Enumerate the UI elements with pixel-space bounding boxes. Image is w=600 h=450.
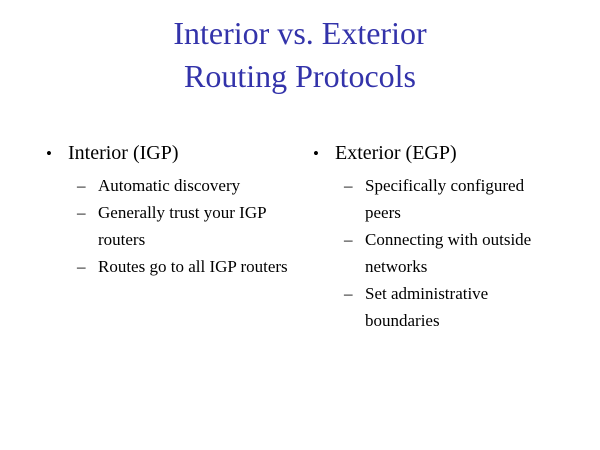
list-item: – Automatic discovery: [40, 172, 290, 199]
list-item: – Generally trust your IGP routers: [40, 199, 290, 253]
list-item-label: Connecting with outside networks: [365, 226, 562, 280]
dash-icon: –: [77, 253, 86, 280]
dash-icon: –: [344, 172, 353, 199]
sub-list-exterior: – Specifically configured peers – Connec…: [307, 172, 562, 334]
bullet-label-interior: Interior (IGP): [68, 142, 179, 164]
list-item: – Routes go to all IGP routers: [40, 253, 290, 280]
dash-icon: –: [77, 199, 86, 226]
slide-body: • Interior (IGP) – Automatic discovery –…: [0, 140, 600, 340]
dash-icon: –: [344, 226, 353, 253]
bullet-label-exterior: Exterior (EGP): [335, 142, 457, 164]
slide: Interior vs. Exterior Routing Protocols …: [0, 0, 600, 450]
dash-icon: –: [77, 172, 86, 199]
bullet-item-exterior: • Exterior (EGP): [307, 140, 562, 167]
list-item-label: Routes go to all IGP routers: [98, 253, 290, 280]
page-title: Interior vs. Exterior Routing Protocols: [0, 12, 600, 98]
dash-icon: –: [344, 280, 353, 307]
list-item-label: Automatic discovery: [98, 172, 290, 199]
column-exterior: • Exterior (EGP) – Specifically configur…: [307, 140, 562, 334]
bullet-item-interior: • Interior (IGP): [40, 140, 290, 167]
list-item-label: Set administrative boundaries: [365, 280, 562, 334]
list-item-label: Generally trust your IGP routers: [98, 199, 290, 253]
column-interior: • Interior (IGP) – Automatic discovery –…: [40, 140, 290, 280]
list-item: – Connecting with outside networks: [307, 226, 562, 280]
list-item: – Set administrative boundaries: [307, 280, 562, 334]
bullet-dot-icon: •: [46, 140, 52, 167]
bullet-dot-icon: •: [313, 140, 319, 167]
list-item: – Specifically configured peers: [307, 172, 562, 226]
sub-list-interior: – Automatic discovery – Generally trust …: [40, 172, 290, 280]
list-item-label: Specifically configured peers: [365, 172, 562, 226]
